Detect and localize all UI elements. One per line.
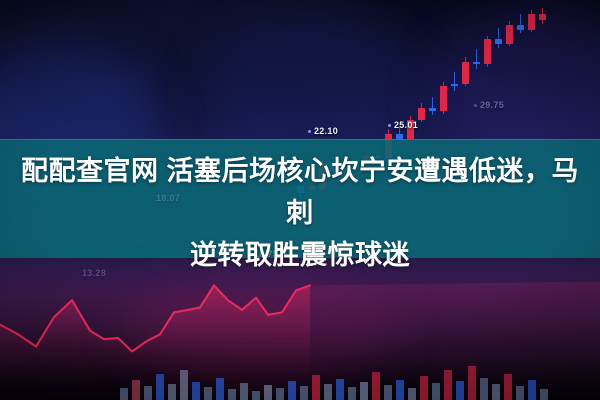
- price-label-value: 29.75: [480, 100, 504, 110]
- candlestick: [473, 49, 480, 69]
- candlestick: [484, 36, 491, 67]
- candlestick-body: [506, 25, 513, 44]
- price-label-marker-dot: [308, 130, 311, 133]
- candlestick: [429, 97, 436, 115]
- candlestick-body: [440, 86, 447, 111]
- headline-band-top-edge: [0, 139, 600, 140]
- candlestick-body: [517, 25, 524, 30]
- price-label-value: 25.01: [394, 120, 418, 130]
- candlestick: [495, 28, 502, 47]
- candlestick-body: [484, 39, 491, 64]
- line-chart-area-fill: [0, 286, 310, 400]
- candlestick: [418, 103, 425, 122]
- candlestick-body: [495, 39, 502, 44]
- candlestick: [517, 14, 524, 33]
- price-label: 29.75: [474, 100, 504, 110]
- candlestick: [539, 8, 546, 24]
- headline-line-2: 逆转取胜震惊球迷: [14, 234, 586, 276]
- candlestick-body: [451, 84, 458, 87]
- headline-line-1: 配配查官网 活塞后场核心坎宁安遭遇低迷，马刺: [14, 150, 586, 234]
- price-label-value: 22.10: [314, 126, 338, 136]
- lower-line-chart: [0, 258, 600, 400]
- candlestick: [506, 21, 513, 46]
- candlestick: [462, 57, 469, 86]
- candlestick-body: [429, 108, 436, 112]
- candlestick: [451, 72, 458, 91]
- price-label: 25.01: [388, 120, 418, 130]
- price-label-marker-dot: [388, 124, 391, 127]
- candlestick-wick: [454, 72, 455, 91]
- candlestick-wick: [476, 49, 477, 69]
- candlestick-wick: [432, 97, 433, 115]
- line-chart-area-right: [310, 282, 600, 400]
- candlestick-body: [539, 14, 546, 20]
- candlestick: [528, 10, 535, 32]
- candlestick-wick: [498, 28, 499, 47]
- candlestick-body: [418, 108, 425, 120]
- candlestick-body: [528, 14, 535, 30]
- headline-text: 配配查官网 活塞后场核心坎宁安遭遇低迷，马刺 逆转取胜震惊球迷: [0, 150, 600, 276]
- candlestick: [440, 82, 447, 113]
- price-label-marker-dot: [474, 104, 477, 107]
- candlestick-body: [462, 62, 469, 84]
- banner-image: 22.1025.0129.7518.0718.7513.28 配配查官网 活塞后…: [0, 0, 600, 400]
- price-label: 22.10: [308, 126, 338, 136]
- candlestick-wick: [520, 14, 521, 33]
